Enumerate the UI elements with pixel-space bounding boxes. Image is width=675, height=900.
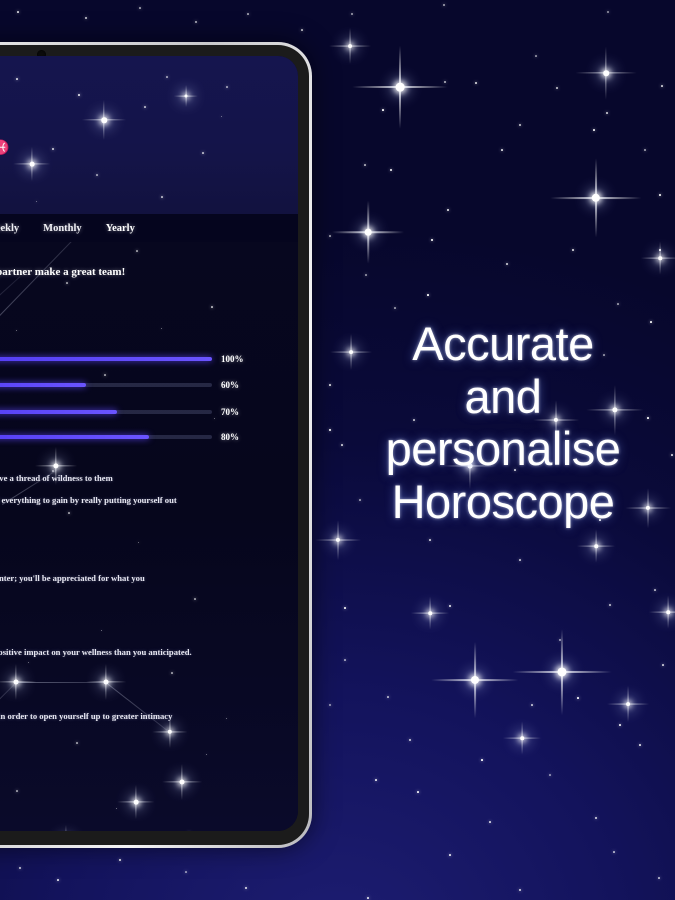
constellation-line — [105, 682, 170, 733]
star — [394, 307, 396, 309]
star — [595, 817, 596, 818]
star — [351, 13, 353, 15]
star — [364, 164, 366, 166]
promo-line-2: and — [338, 371, 668, 424]
star — [375, 779, 377, 781]
star — [659, 249, 661, 251]
star — [66, 282, 68, 284]
star — [501, 149, 503, 151]
star — [185, 871, 187, 873]
star — [202, 152, 204, 154]
star — [390, 169, 393, 172]
star — [221, 116, 222, 117]
star — [481, 759, 483, 761]
star — [431, 239, 432, 240]
constellation-line — [0, 242, 77, 361]
star — [658, 877, 660, 879]
star — [206, 754, 207, 755]
meter-fill — [0, 410, 117, 414]
star — [671, 454, 673, 456]
meter-track — [0, 410, 212, 414]
meter-percent-label: 70% — [221, 407, 239, 417]
horoscope-paragraph: Embrace your vulnerability in order to o… — [0, 710, 254, 723]
star — [195, 21, 196, 22]
meter-fill — [0, 383, 86, 387]
star — [104, 374, 106, 376]
meter-percent-label: 80% — [221, 432, 239, 442]
star — [116, 808, 117, 809]
star — [101, 630, 102, 631]
star — [28, 662, 29, 663]
star — [329, 235, 331, 237]
promo-line-3: personalise — [338, 423, 668, 476]
star — [449, 854, 451, 856]
star — [301, 29, 303, 31]
star — [247, 13, 249, 15]
star — [519, 559, 521, 561]
star — [662, 664, 664, 666]
star — [367, 897, 369, 899]
star — [138, 542, 139, 543]
meter-row-love: 100% — [0, 356, 266, 362]
tablet-bezel: Aquarius ♒ ♓ ✓ Daily Weekly Monthly Year… — [0, 45, 309, 845]
star — [447, 209, 449, 211]
star — [659, 194, 661, 196]
meter-row-career: 60% — [0, 382, 266, 388]
star — [427, 294, 429, 296]
promo-tagline: Accurate and personalise Horoscope — [338, 318, 668, 529]
meter-track — [0, 357, 212, 361]
star — [661, 85, 663, 87]
star — [76, 742, 78, 744]
star — [57, 879, 59, 881]
tab-weekly[interactable]: Weekly — [0, 223, 19, 234]
horoscope-paragraph: Today your conversations have a thread o… — [0, 472, 254, 485]
star — [609, 604, 611, 606]
star — [194, 598, 196, 600]
meter-percent-label: 60% — [221, 380, 239, 390]
star — [78, 94, 80, 96]
app-hero-sky: Aquarius ♒ ♓ — [0, 56, 298, 214]
star — [211, 306, 213, 308]
star — [449, 605, 451, 607]
star — [161, 196, 163, 198]
constellation-line — [16, 682, 106, 683]
star — [549, 774, 551, 776]
star — [443, 4, 445, 6]
star — [577, 697, 579, 699]
star — [139, 7, 141, 9]
star — [556, 87, 558, 89]
meter-percent-label: 100% — [221, 354, 244, 364]
star — [96, 174, 98, 176]
star — [329, 704, 330, 705]
star — [593, 129, 595, 131]
star — [329, 384, 331, 386]
star — [639, 744, 641, 746]
star — [387, 696, 389, 698]
star — [644, 149, 646, 151]
star — [52, 148, 54, 150]
star — [16, 78, 18, 80]
horoscope-content: You and your partner make a great team! … — [0, 242, 298, 831]
promo-line-1: Accurate — [338, 318, 668, 371]
star — [429, 539, 431, 541]
star — [119, 859, 120, 860]
star — [245, 887, 246, 888]
star — [559, 639, 560, 640]
star — [36, 201, 37, 202]
star — [619, 724, 621, 726]
star — [214, 418, 215, 419]
star — [85, 17, 86, 18]
meter-track — [0, 435, 212, 439]
star — [613, 851, 615, 853]
star — [161, 328, 162, 329]
star — [19, 867, 20, 868]
horoscope-paragraph: A small change has a more positive impac… — [0, 646, 254, 659]
star — [68, 512, 70, 514]
star — [344, 607, 346, 609]
star — [617, 303, 619, 305]
tab-yearly[interactable]: Yearly — [106, 223, 135, 234]
meter-fill — [0, 357, 212, 361]
star — [475, 82, 477, 84]
star — [344, 659, 346, 661]
period-tabs: Daily Weekly Monthly Yearly — [0, 214, 298, 242]
tab-monthly[interactable]: Monthly — [43, 223, 82, 234]
star — [607, 11, 609, 13]
star — [654, 589, 656, 591]
star — [489, 821, 491, 823]
meter-fill — [0, 435, 149, 439]
tablet-device-mockup: Aquarius ♒ ♓ ✓ Daily Weekly Monthly Year… — [0, 42, 312, 848]
horoscope-paragraph: You have nothing to lose and everything … — [0, 494, 254, 507]
meter-row-health: 70% — [0, 409, 266, 415]
star — [329, 429, 330, 430]
star — [417, 791, 419, 793]
tablet-screen: Aquarius ♒ ♓ ✓ Daily Weekly Monthly Year… — [0, 56, 298, 831]
star — [16, 330, 17, 331]
star — [409, 739, 410, 740]
star — [531, 704, 533, 706]
star — [166, 76, 168, 78]
horoscope-paragraph: Put your talents front and center; you'l… — [0, 572, 254, 585]
star — [144, 106, 146, 108]
star — [519, 124, 521, 126]
star — [171, 672, 173, 674]
star — [535, 55, 537, 57]
star — [365, 274, 367, 276]
star — [572, 249, 574, 251]
meter-track — [0, 383, 212, 387]
star — [226, 86, 228, 88]
star — [382, 109, 384, 111]
star — [606, 112, 608, 114]
star — [506, 263, 508, 265]
star — [519, 889, 520, 890]
star — [16, 790, 18, 792]
pisces-glyph-icon[interactable]: ♓ — [0, 139, 9, 156]
meter-row-money: 80% — [0, 434, 266, 440]
star — [17, 11, 19, 13]
promo-line-4: Horoscope — [338, 476, 668, 529]
star — [444, 81, 446, 83]
constellation-line — [0, 276, 21, 335]
star — [136, 250, 138, 252]
